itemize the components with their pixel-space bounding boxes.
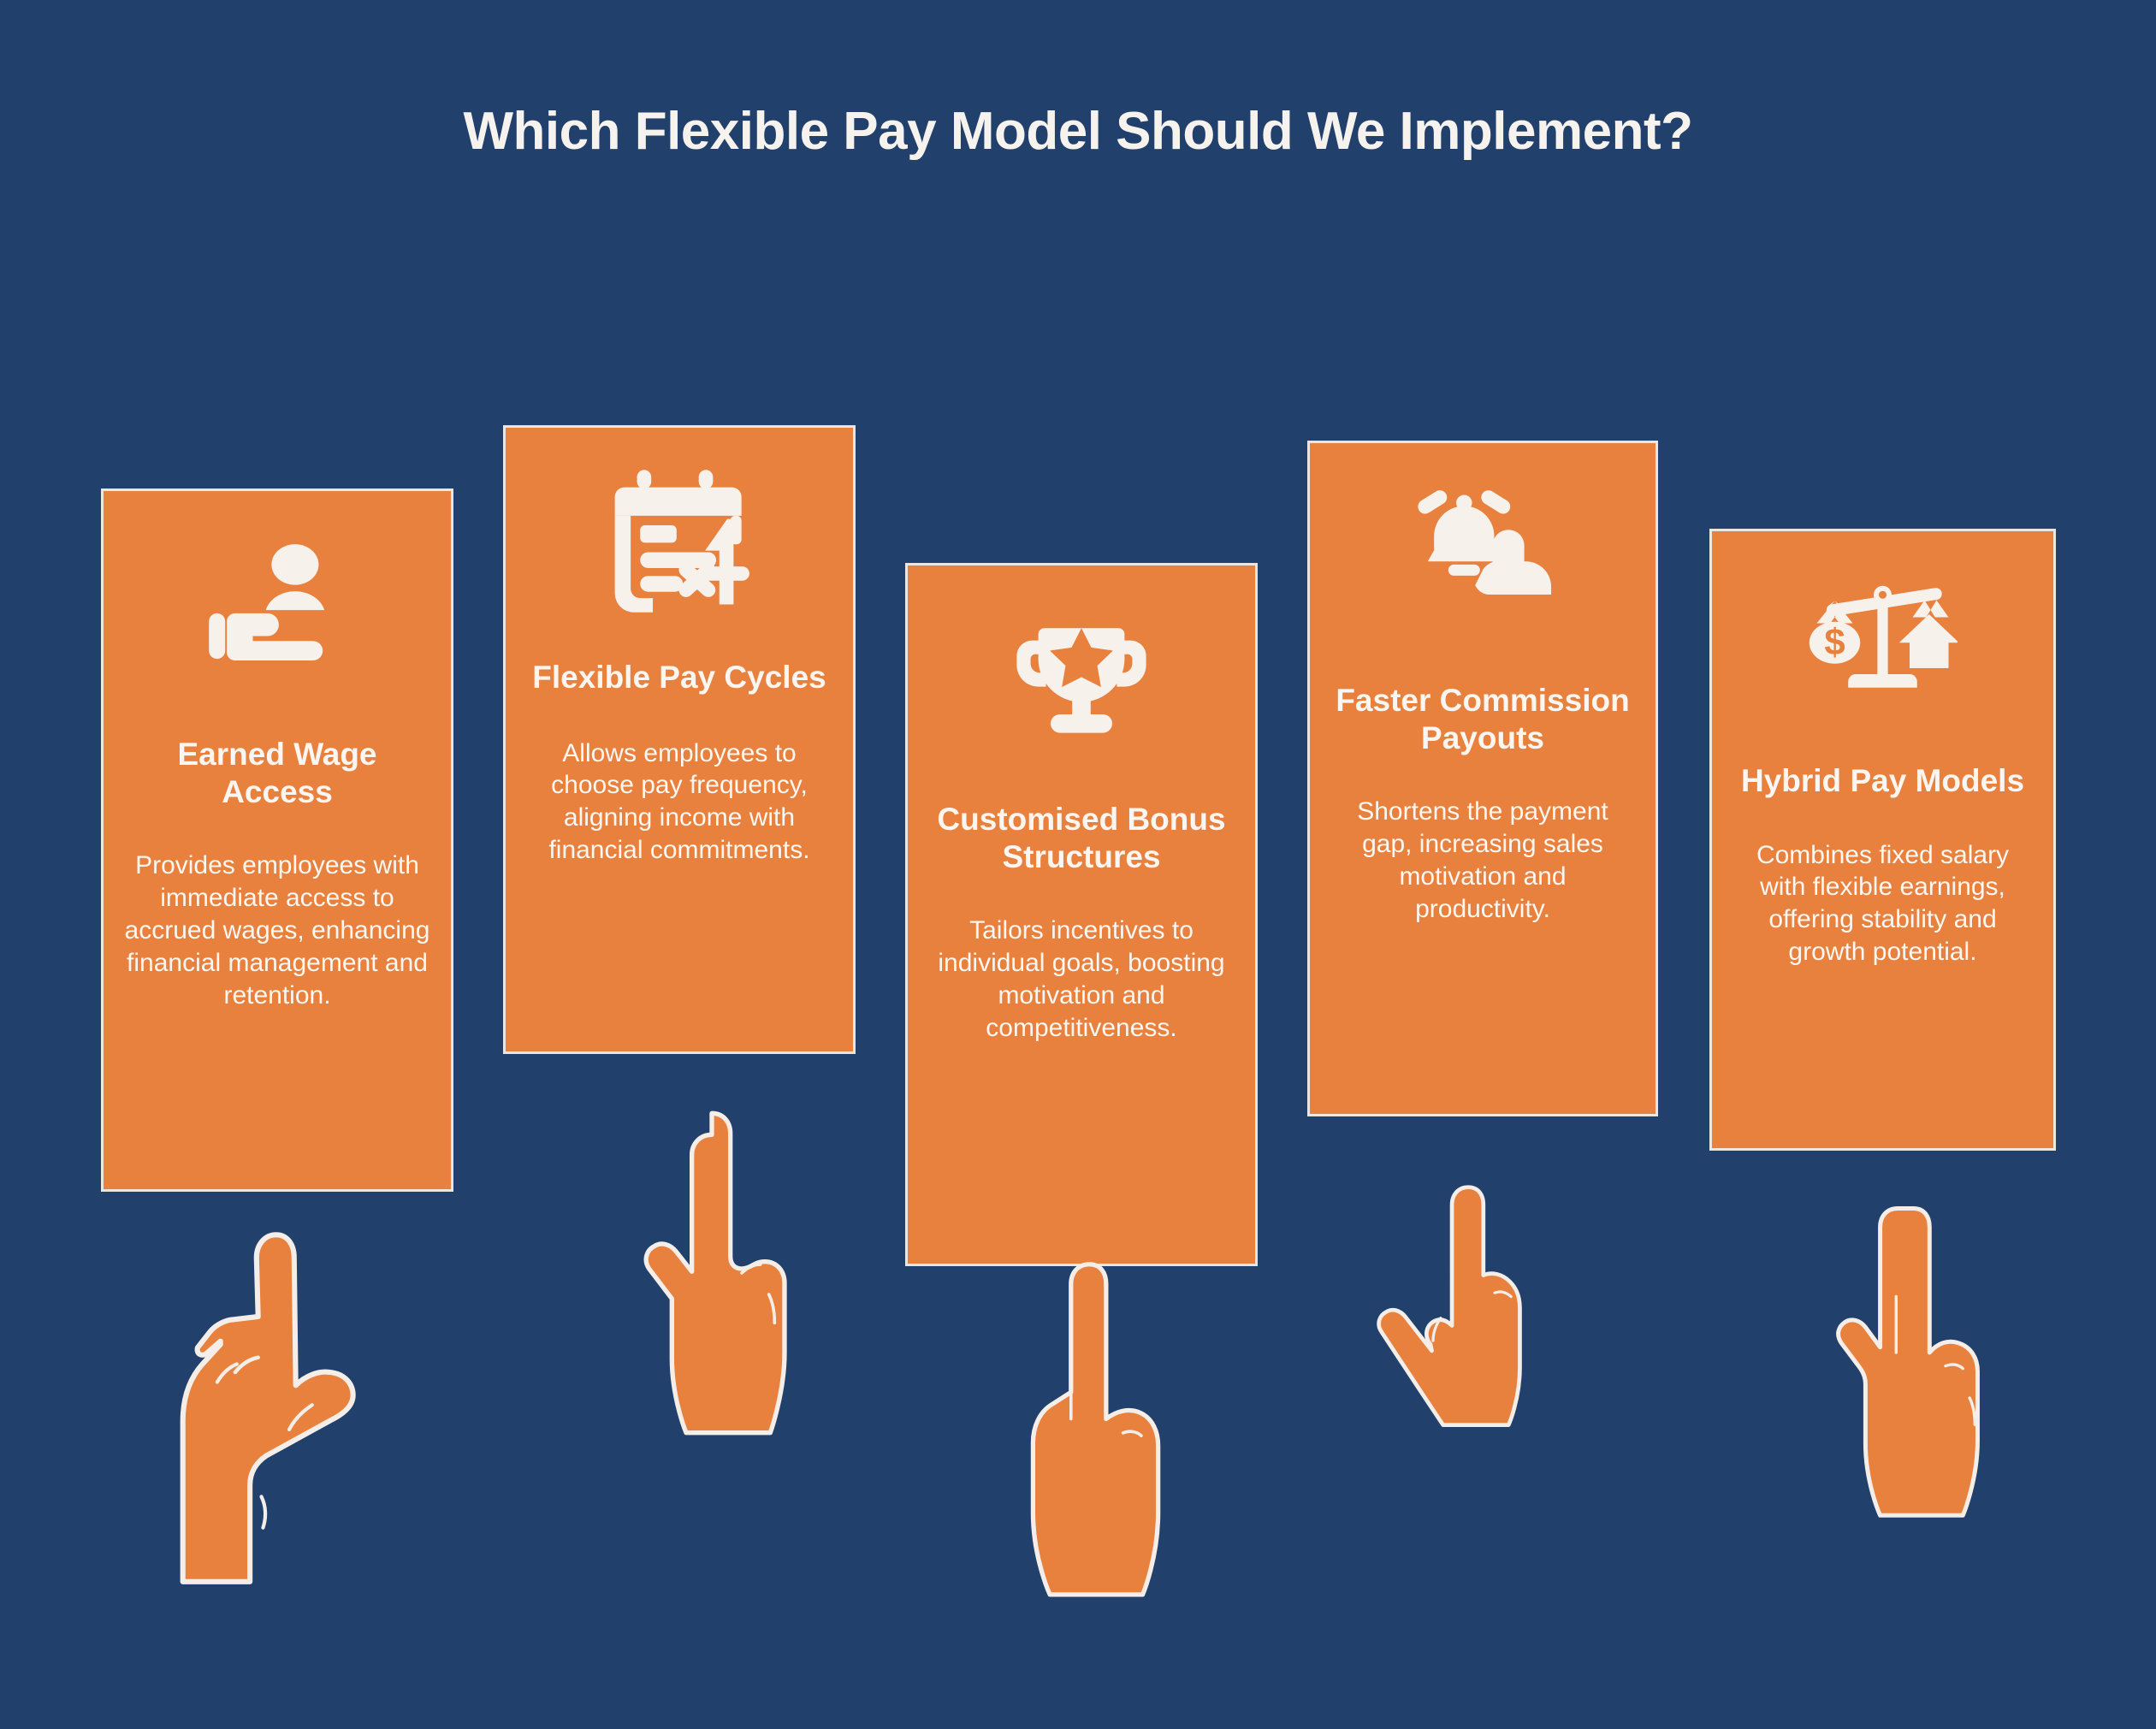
card-faster-commission-payouts[interactable]: Faster Commission Payouts Shortens the p…	[1307, 441, 1658, 1116]
card-title: Flexible Pay Cycles	[524, 659, 834, 696]
card-title: Customised Bonus Structures	[927, 801, 1236, 875]
card-description: Provides employees with immediate access…	[122, 850, 432, 1011]
pointing-up-hand-2	[609, 1102, 823, 1444]
card-description: Combines fixed salary with flexible earn…	[1731, 839, 2035, 968]
card-title: Hybrid Pay Models	[1731, 762, 2035, 800]
hand-holding-person-icon	[122, 530, 432, 702]
pointing-up-hand-1	[147, 1222, 395, 1598]
page-title: Which Flexible Pay Model Should We Imple…	[0, 101, 2156, 162]
pointing-up-hand-5	[1822, 1198, 2023, 1531]
card-title: Earned Wage Access	[122, 736, 432, 810]
card-description: Tailors incentives to individual goals, …	[927, 915, 1236, 1044]
card-hybrid-pay-models[interactable]: $ Hybrid Pay Models Combines fixed salar…	[1709, 529, 2056, 1151]
trophy-star-icon	[927, 607, 1236, 765]
pointing-up-hand-3	[999, 1249, 1196, 1608]
card-earned-wage-access[interactable]: Earned Wage Access Provides employees wi…	[101, 489, 453, 1192]
card-description: Shortens the payment gap, increasing sal…	[1329, 796, 1637, 925]
balance-scale-dollar-house-icon: $	[1731, 572, 2035, 726]
card-description: Allows employees to choose pay frequency…	[524, 737, 834, 867]
calendar-x4-icon	[524, 462, 834, 625]
pointing-up-hand-4	[1369, 1153, 1583, 1495]
card-title: Faster Commission Payouts	[1329, 682, 1637, 756]
infographic-canvas: Which Flexible Pay Model Should We Imple…	[0, 0, 2156, 1729]
card-flexible-pay-cycles[interactable]: Flexible Pay Cycles Allows employees to …	[503, 425, 856, 1054]
card-customised-bonus-structures[interactable]: Customised Bonus Structures Tailors ince…	[905, 563, 1258, 1266]
svg-text:$: $	[1824, 621, 1845, 663]
alarm-bell-hand-icon	[1329, 479, 1637, 646]
